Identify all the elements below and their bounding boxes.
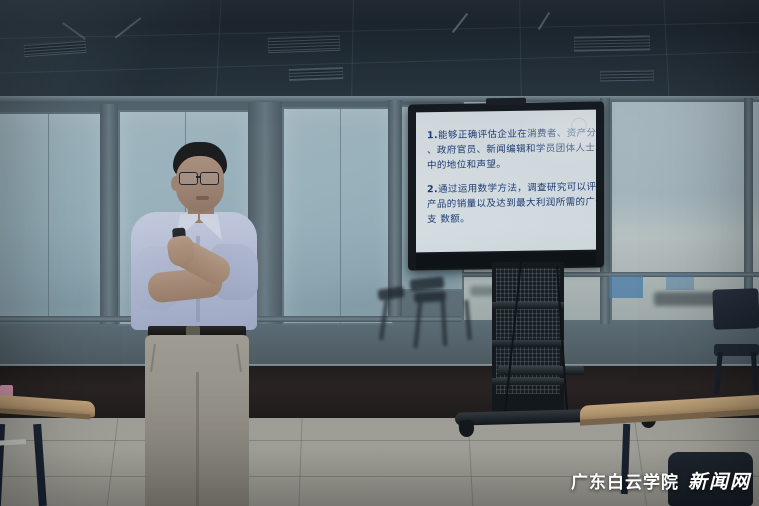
panel-seam bbox=[48, 114, 49, 322]
wall-mullion bbox=[100, 104, 118, 324]
glasses-bridge bbox=[196, 176, 201, 178]
cart-shelf bbox=[492, 378, 564, 385]
tv-cart-column bbox=[492, 262, 564, 412]
slide-bullet-number: 2. bbox=[427, 184, 438, 195]
display-camera-icon bbox=[486, 98, 526, 106]
ceiling-vent-icon bbox=[574, 35, 650, 51]
slide-content: 1.能够正确评估企业在消费者、资产分析师 、政府官员、新闻编辑和学员团体人士心目… bbox=[427, 126, 594, 237]
slide-line-text: 能够正确评估企业在消费者、资产分析师 bbox=[438, 127, 596, 141]
chair-foreground bbox=[668, 452, 753, 506]
slide-line-text: 、政府官员、新闻编辑和学员团体人士心目 bbox=[427, 141, 594, 159]
corridor-poster bbox=[609, 276, 643, 298]
glasses-icon bbox=[200, 172, 219, 185]
slide-line-text: 通过运用数学方法，调查研究可以评估新 bbox=[438, 181, 596, 195]
cart-shelf bbox=[492, 302, 564, 309]
ceiling-vent-icon bbox=[600, 70, 654, 82]
glasses-icon bbox=[179, 172, 198, 185]
display-screen: 1.能够正确评估企业在消费者、资产分析师 、政府官员、新闻编辑和学员团体人士心目… bbox=[416, 110, 596, 253]
slide-bullet-number: 1. bbox=[427, 130, 438, 141]
slide-line-text: 产品的销量以及达到最大利润所需的广告开 bbox=[427, 195, 594, 213]
photo-canvas: 1.能够正确评估企业在消费者、资产分析师 、政府官员、新闻编辑和学员团体人士心目… bbox=[0, 0, 759, 506]
presentation-display[interactable]: 1.能够正确评估企业在消费者、资产分析师 、政府官员、新闻编辑和学员团体人士心目… bbox=[408, 101, 604, 270]
ceiling bbox=[0, 0, 759, 100]
floor-tile-line bbox=[298, 418, 302, 506]
slide-paragraph-2: 2.通过运用数学方法，调查研究可以评估新 产品的销量以及达到最大利润所需的广告开… bbox=[427, 180, 594, 228]
trouser-seam bbox=[196, 372, 199, 506]
floor-tile-line bbox=[634, 418, 647, 505]
ceiling-vent-icon bbox=[289, 67, 343, 81]
floor-tile-line bbox=[0, 476, 759, 477]
cart-mesh-panel bbox=[496, 268, 560, 394]
cart-shelf bbox=[492, 340, 564, 347]
panel-seam bbox=[340, 109, 341, 323]
chair-backrest bbox=[712, 288, 759, 330]
whiteboard-panel bbox=[0, 112, 106, 324]
slide-paragraph-1: 1.能够正确评估企业在消费者、资产分析师 、政府官员、新闻编辑和学员团体人士心目… bbox=[427, 126, 594, 174]
floor-tile-line bbox=[107, 418, 119, 505]
corridor-poster bbox=[666, 274, 694, 290]
slide-line-text: 支 数额。 bbox=[427, 210, 594, 228]
slide-line-text: 中的地位和声望。 bbox=[427, 156, 594, 174]
ceiling-beam bbox=[0, 0, 759, 26]
lecturer-mouth bbox=[196, 196, 209, 200]
floor bbox=[0, 418, 759, 506]
ceiling-vent-icon bbox=[268, 35, 341, 54]
